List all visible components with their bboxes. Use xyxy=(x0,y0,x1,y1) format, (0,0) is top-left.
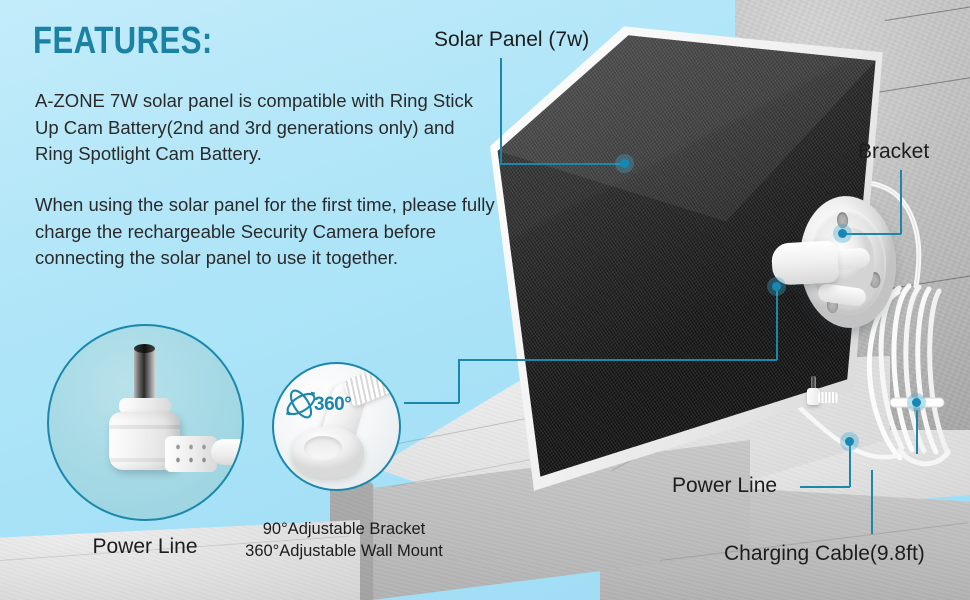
leader-line-bracket-horizontal xyxy=(843,233,901,235)
callout-dot-solar-panel xyxy=(620,159,629,168)
callout-label-charging-cable: Charging Cable(9.8ft) xyxy=(724,542,925,566)
leader-line-power-line-vertical xyxy=(849,444,851,487)
inset-caption-bracket-line-1: 90°Adjustable Bracket xyxy=(238,518,450,540)
callout-label-bracket: Bracket xyxy=(858,140,929,164)
connector-body-groove xyxy=(109,425,180,429)
callout-dot-power-line xyxy=(845,437,854,446)
leader-line-charging-cable-upper xyxy=(916,410,918,454)
callout-dot-bracket-arm xyxy=(772,282,781,291)
leader-line-bracket-vertical xyxy=(900,170,902,234)
inset-caption-bracket-line-2: 360°Adjustable Wall Mount xyxy=(238,540,450,562)
badge-360-label: 360° xyxy=(314,394,351,416)
callout-label-power-line: Power Line xyxy=(672,474,777,498)
leader-line-solar-panel-vertical xyxy=(500,58,502,164)
connector-pin-tip xyxy=(134,344,155,353)
callout-dot-bracket xyxy=(838,229,847,238)
feature-paragraph-2: When using the solar panel for the first… xyxy=(35,192,495,272)
callout-label-solar-panel: Solar Panel (7w) xyxy=(434,28,589,52)
leader-line-power-line-horizontal xyxy=(800,486,850,488)
dc-plug-strain-relief xyxy=(818,392,838,403)
leader-line-charging-cable-vertical xyxy=(871,470,873,534)
leader-line-bracket-arm-stub xyxy=(458,359,460,403)
leader-line-bracket-arm-horizontal xyxy=(458,359,777,361)
bracket-base-recess xyxy=(304,436,342,460)
connector-barrel-pin xyxy=(134,346,155,404)
bracket-arm xyxy=(771,240,839,285)
connector-cable xyxy=(211,439,244,465)
feature-paragraph-1: A-ZONE 7W solar panel is compatible with… xyxy=(35,88,495,168)
inset-power-line xyxy=(47,324,244,521)
page-title: FEATURES: xyxy=(33,20,213,63)
connector-vent-holes xyxy=(172,442,210,466)
inset-adjustable-bracket: 360° xyxy=(272,362,401,491)
leader-line-solar-panel-horizontal xyxy=(500,163,624,165)
leader-line-bracket-arm-stub-h xyxy=(404,402,459,404)
infographic-canvas: Solar Panel (7w) Bracket Power Line Char… xyxy=(0,0,970,600)
callout-dot-charging-cable xyxy=(912,398,921,407)
leader-line-bracket-arm-vertical xyxy=(776,286,778,360)
